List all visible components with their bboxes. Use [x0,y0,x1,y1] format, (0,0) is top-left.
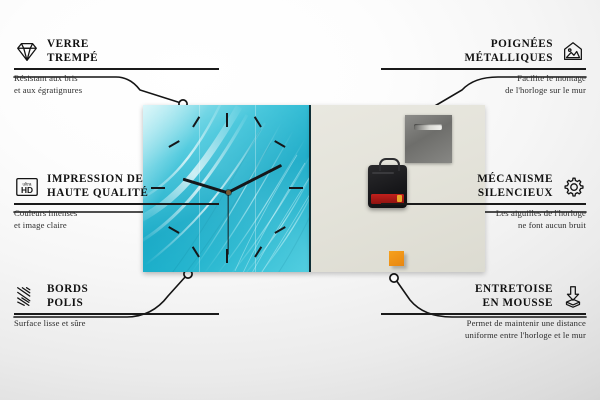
feature-header: VERRE TREMPÉ [14,38,219,65]
feature-title: BORDS POLIS [47,283,88,310]
feature-desc-line2: et image claire [14,220,219,232]
feature-verre-trempe: VERRE TREMPÉ Résistant aux bris et aux é… [14,38,219,96]
feature-mecanisme-silencieux: MÉCANISME SILENCIEUX Les aiguilles de l'… [381,173,586,231]
feature-desc-line1: Surface lisse et sûre [14,318,219,330]
feature-divider [381,203,586,204]
clock-center-hub [226,190,231,195]
clock-tick-3 [289,187,303,189]
arrow-down-pad-icon [560,284,586,310]
gear-icon [560,174,586,200]
metal-hanger-plate [405,115,452,163]
clock-second-hand [227,192,228,254]
feature-description: Couleurs intenses et image claire [14,208,219,231]
feature-title: MÉCANISME SILENCIEUX [477,173,553,200]
feature-desc-line2: uniforme entre l'horloge et le mur [381,330,586,342]
feature-header: BORDS POLIS [14,283,219,310]
diamond-icon [14,39,40,65]
feature-title: ENTRETOISE EN MOUSSE [475,283,553,310]
polished-edges-icon [14,284,40,310]
infographic-canvas: VERRE TREMPÉ Résistant aux bris et aux é… [0,0,600,400]
wall-frame-hanger-icon [560,39,586,65]
clock-tick-12 [226,113,228,127]
feature-title-line2: MÉTALLIQUES [464,52,553,66]
feature-title-line1: IMPRESSION DE [47,173,148,187]
feature-description: Les aiguilles de l'horloge ne font aucun… [381,208,586,231]
feature-title-line2: HAUTE QUALITÉ [47,187,148,201]
mechanism-hanging-loop [379,158,400,171]
feature-header: POIGNÉES MÉTALLIQUES [381,38,586,65]
feature-title-line1: BORDS [47,283,88,297]
feature-header: ultra HD IMPRESSION DE HAUTE QUALITÉ [14,173,219,200]
feature-header: MÉCANISME SILENCIEUX [381,173,586,200]
feature-desc-line1: Résistant aux bris [14,73,219,85]
hanger-slot [414,124,442,130]
feature-divider [381,313,586,314]
feature-description: Résistant aux bris et aux égratignures [14,73,219,96]
clock-panel-seam-2 [255,105,256,272]
feature-title-line2: POLIS [47,297,88,311]
ultra-hd-icon-bottom-text: HD [21,185,33,195]
feature-desc-line2: de l'horloge sur le mur [381,85,586,97]
feature-title-line1: VERRE [47,38,98,52]
feature-header: ENTRETOISE EN MOUSSE [381,283,586,310]
feature-title: IMPRESSION DE HAUTE QUALITÉ [47,173,148,200]
feature-desc-line1: Facilite le montage [381,73,586,85]
feature-title-line2: TREMPÉ [47,52,98,66]
feature-title-line2: EN MOUSSE [475,297,553,311]
feature-description: Surface lisse et sûre [14,318,219,330]
feature-divider [14,203,219,204]
feature-impression-haute-qualite: ultra HD IMPRESSION DE HAUTE QUALITÉ Cou… [14,173,219,231]
feature-title-line1: POIGNÉES [464,38,553,52]
feature-poignees-metalliques: POIGNÉES MÉTALLIQUES Facilite le montage… [381,38,586,96]
connector-dot-entretoise [390,274,398,282]
feature-title: VERRE TREMPÉ [47,38,98,65]
feature-title-line1: ENTRETOISE [475,283,553,297]
feature-desc-line1: Les aiguilles de l'horloge [381,208,586,220]
feature-desc-line1: Permet de maintenir une distance [381,318,586,330]
feature-description: Facilite le montage de l'horloge sur le … [381,73,586,96]
feature-title: POIGNÉES MÉTALLIQUES [464,38,553,65]
feature-desc-line2: ne font aucun bruit [381,220,586,232]
feature-title-line2: SILENCIEUX [477,187,553,201]
feature-description: Permet de maintenir une distance uniform… [381,318,586,341]
feature-divider [381,68,586,69]
feature-title-line1: MÉCANISME [477,173,553,187]
foam-spacer [389,251,404,266]
feature-desc-line2: et aux égratignures [14,85,219,97]
feature-entretoise-en-mousse: ENTRETOISE EN MOUSSE Permet de maintenir… [381,283,586,341]
ultra-hd-icon: ultra HD [14,174,40,200]
feature-bords-polis: BORDS POLIS Surface lisse et sûre [14,283,219,330]
feature-divider [14,68,219,69]
feature-divider [14,313,219,314]
feature-desc-line1: Couleurs intenses [14,208,219,220]
